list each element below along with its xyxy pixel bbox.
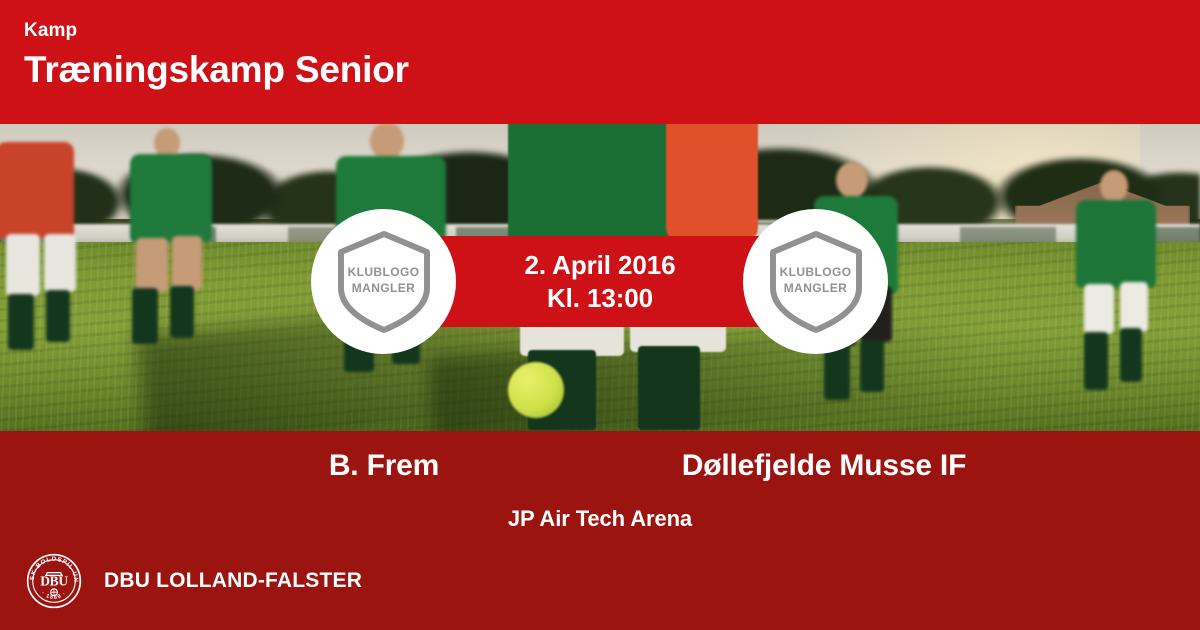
match-time: Kl. 13:00	[547, 282, 653, 315]
shield-icon: KLUBLOGO MANGLER	[767, 230, 865, 334]
home-team-name: B. Frem	[184, 447, 584, 485]
home-club-badge[interactable]: KLUBLOGO MANGLER	[311, 209, 456, 354]
shield-icon: KLUBLOGO MANGLER	[335, 230, 433, 334]
poster-header: Kamp Træningskamp Senior	[0, 0, 1200, 124]
away-badge-text: KLUBLOGO MANGLER	[767, 264, 865, 296]
home-badge-line1: KLUBLOGO	[335, 264, 433, 280]
photo-player	[96, 130, 246, 380]
photo-player	[1060, 174, 1190, 394]
away-team-name: Døllefjelde Musse IF	[624, 447, 1024, 485]
organisation-name: DBU LOLLAND-FALSTER	[104, 568, 362, 594]
photo-football	[508, 362, 564, 418]
away-badge-line2: MANGLER	[767, 280, 865, 296]
svg-text:DBU: DBU	[40, 573, 68, 588]
header-kicker: Kamp	[24, 20, 1200, 42]
home-badge-text: KLUBLOGO MANGLER	[335, 264, 433, 296]
away-club-badge[interactable]: KLUBLOGO MANGLER	[743, 209, 888, 354]
page-title: Træningskamp Senior	[24, 46, 1200, 94]
home-badge-line2: MANGLER	[335, 280, 433, 296]
match-date: 2. April 2016	[525, 249, 676, 282]
match-poster: Kamp Træningskamp Senior	[0, 0, 1200, 630]
photo-player	[0, 134, 108, 374]
venue-name: JP Air Tech Arena	[0, 505, 1200, 533]
organisation-branding: DANSK BOLDSPIL UNION · 1889 · DBU DBU LO…	[26, 550, 362, 612]
away-badge-line1: KLUBLOGO	[767, 264, 865, 280]
dbu-logo-icon: DANSK BOLDSPIL UNION · 1889 · DBU	[26, 553, 82, 609]
